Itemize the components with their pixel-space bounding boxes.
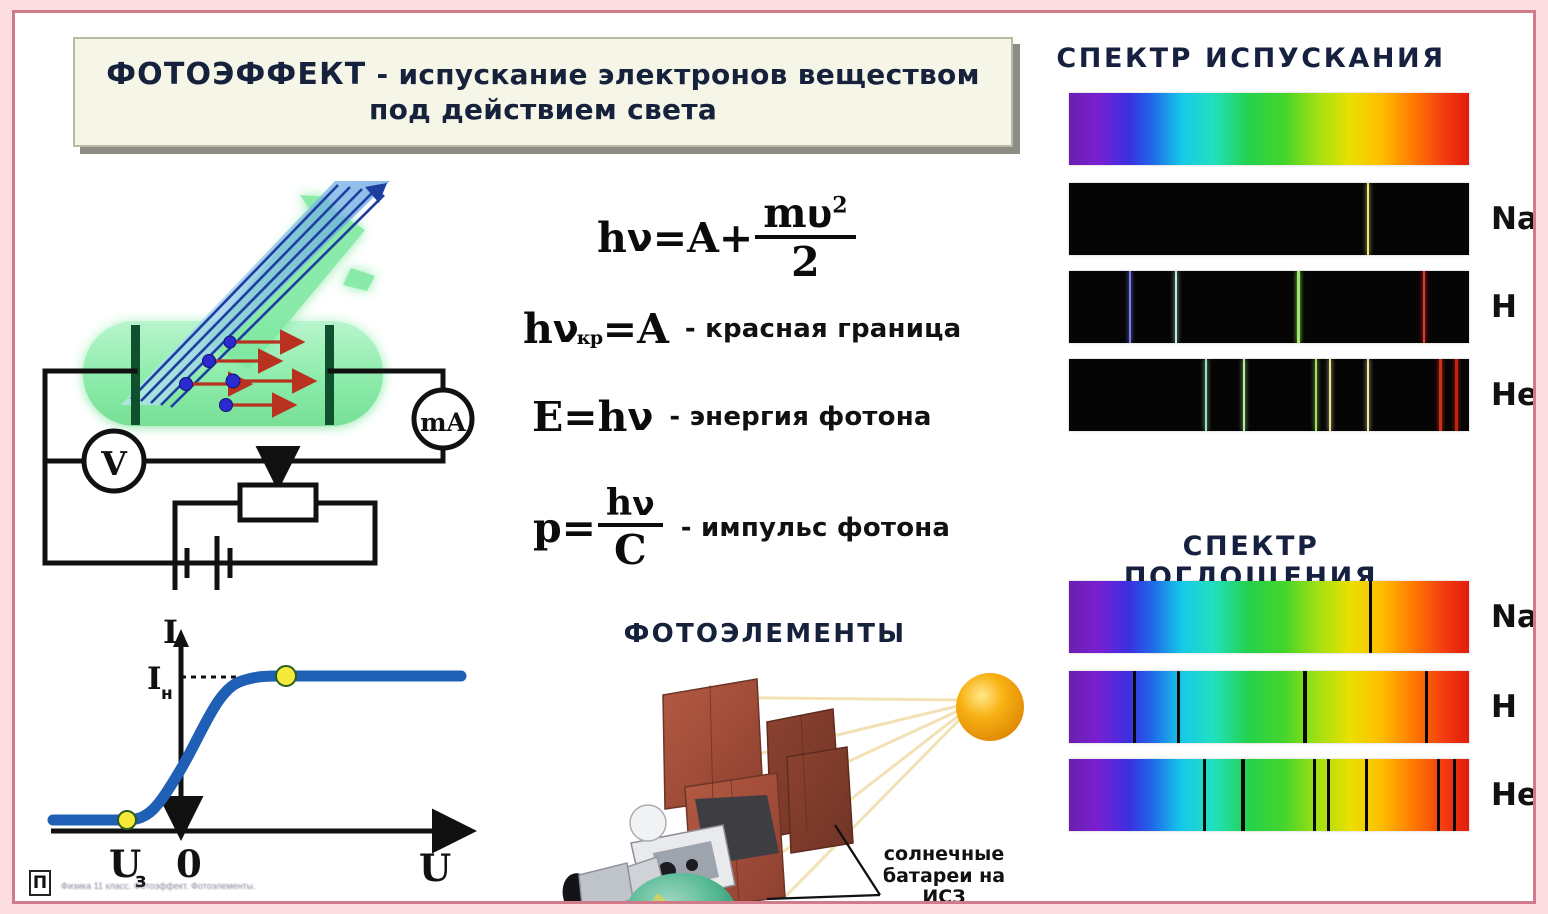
page-title-rest: - испускание электронов веществом под де… [366,58,979,127]
emission-band-h [1069,271,1469,343]
formula-h: h [523,305,553,353]
iv-curve [53,676,461,820]
solar-battery-caption: солнечные батареи на ИСЗ [859,844,1029,904]
caption-photon-energy: - энергия фотона [669,402,931,432]
formula-light-speed: C [614,527,647,572]
saturation-point [276,666,296,686]
spectral-line [1175,271,1177,343]
graph-y-axis-label: I [163,613,178,651]
formula-red-boundary: hνкр=A - красная граница [523,305,961,353]
caption-photon-momentum: - импульс фотона [681,513,950,543]
absorption-row-he: He [1069,759,1536,831]
milliammeter: mA [414,390,472,448]
spectral-line [1439,359,1442,431]
spectral-line [1303,671,1307,743]
emission-row-na: Na [1069,183,1536,255]
formula-equals: = [603,305,637,353]
milliammeter-label: mA [420,408,466,437]
formula-square-exponent: 2 [832,192,847,218]
spectral-line [1423,271,1425,343]
formula-energy: E [532,393,563,441]
credit-text: Физика 11 класс. Фотоэффект. Фотоэлемент… [61,881,371,895]
graph-svg: I I н U з 0 U [31,609,501,899]
formula-h: h [598,393,628,441]
voltmeter: V [84,431,144,491]
spectral-line [1315,359,1317,431]
formula-nu: ν [627,216,653,260]
absorption-band-na [1069,581,1469,653]
saturation-current-sublabel: н [161,684,173,704]
absorption-band-label-na: Na [1491,599,1536,635]
saturation-current-label: I [147,661,162,697]
formula-plus: + [719,214,753,262]
absorption-band-label-he: He [1491,777,1536,813]
credit-mark-box: П [29,870,51,896]
spectral-line [1205,359,1207,431]
spectral-line [1367,183,1369,255]
spectral-line [1425,671,1428,743]
spectral-line [1455,359,1458,431]
formula-einstein-equation: hν=A+ mυ2 2 [597,192,858,284]
formula-velocity: υ [807,192,833,236]
emission-band-na [1069,183,1469,255]
graph-origin-label: 0 [176,842,202,886]
spectral-line [1453,759,1456,831]
emission-band-label-he: He [1491,377,1536,413]
emission-band-he [1069,359,1469,431]
spectral-line [1241,759,1245,831]
spectral-line [1365,759,1368,831]
poster-title-banner: ФОТОЭФФЕКТ - испускание электронов вещес… [73,37,1013,147]
spectral-line [1133,671,1136,743]
formula-kinetic-energy-fraction: mυ2 2 [755,192,855,284]
absorption-row-na: Na [1069,581,1536,653]
formula-h: h [606,482,632,524]
formula-equals: = [653,214,687,262]
emission-row-h: H [1069,271,1517,343]
page-title-keyword: ФОТОЭФФЕКТ [106,57,366,92]
circuit-svg: V mA [35,173,505,603]
current-voltage-characteristic-graph: I I н U з 0 U [31,609,501,899]
absorption-band-he [1069,759,1469,831]
absorption-band-h [1069,671,1469,743]
formula-denominator-two: 2 [791,239,820,284]
formula-photon-momentum: p= hν C - импульс фотона [533,485,950,572]
formula-mass: m [763,189,806,237]
graph-axes [51,639,467,831]
graph-x-axis-label: U [419,846,451,890]
formula-work-function: A [687,214,719,262]
formula-equals: = [562,504,596,552]
emission-spectrum-title: СПЕКТР ИСПУСКАНИЯ [1051,43,1451,74]
page-title: ФОТОЭФФЕКТ - испускание электронов вещес… [75,57,1011,128]
spectral-line [1243,359,1245,431]
rheostat [240,485,316,520]
absorption-band-label-h: H [1491,689,1517,725]
spectral-line [1297,271,1300,343]
formula-momentum: p [533,504,562,552]
formula-equals: = [563,393,597,441]
formula-nu: ν [627,395,653,439]
continuous-spectrum-band [1069,93,1469,165]
spectral-line [1329,359,1331,431]
spectral-line [1327,759,1330,831]
emission-row-he: He [1069,359,1536,431]
spectral-line [1369,581,1372,653]
formula-work-function: A [637,305,669,353]
sun-icon [956,673,1024,741]
spectra-section: СПЕКТР ИСПУСКАНИЯ Na H He СПЕКТР ПОГЛОЩЕ… [1045,31,1525,891]
absorption-row-h: H [1069,671,1517,743]
spectral-line [1129,271,1131,343]
spectral-line [1367,359,1369,431]
voltmeter-label: V [100,444,128,483]
cathode-plate [131,325,140,425]
emission-band-label-na: Na [1491,201,1536,237]
emission-band-label-h: H [1491,289,1517,325]
formula-momentum-fraction: hν C [598,485,663,572]
formula-block: hν=A+ mυ2 2 hνкр=A - красная граница E=h… [509,178,1029,578]
phototube-circuit-diagram: V mA [35,173,505,603]
poster-canvas: ФОТОЭФФЕКТ - испускание электронов вещес… [12,10,1536,904]
photoelements-section: ФОТОЭЛЕМЕНТЫ [535,613,1035,904]
spectral-line [1313,759,1316,831]
formula-photon-energy: E=hν - энергия фотона [532,393,932,441]
spectral-line [1203,759,1206,831]
formula-nu: ν [632,484,654,523]
formula-subscript-kr: кр [577,327,603,349]
spectral-line [1177,671,1180,743]
emission-row-continuous [1069,93,1491,165]
anode-plate [325,325,334,425]
photoelements-title: ФОТОЭЛЕМЕНТЫ [535,619,995,649]
caption-red-boundary: - красная граница [685,314,961,344]
formula-h: h [597,214,627,262]
spectral-line [1437,759,1440,831]
formula-nu: ν [553,307,579,351]
stopping-voltage-point [118,811,136,829]
